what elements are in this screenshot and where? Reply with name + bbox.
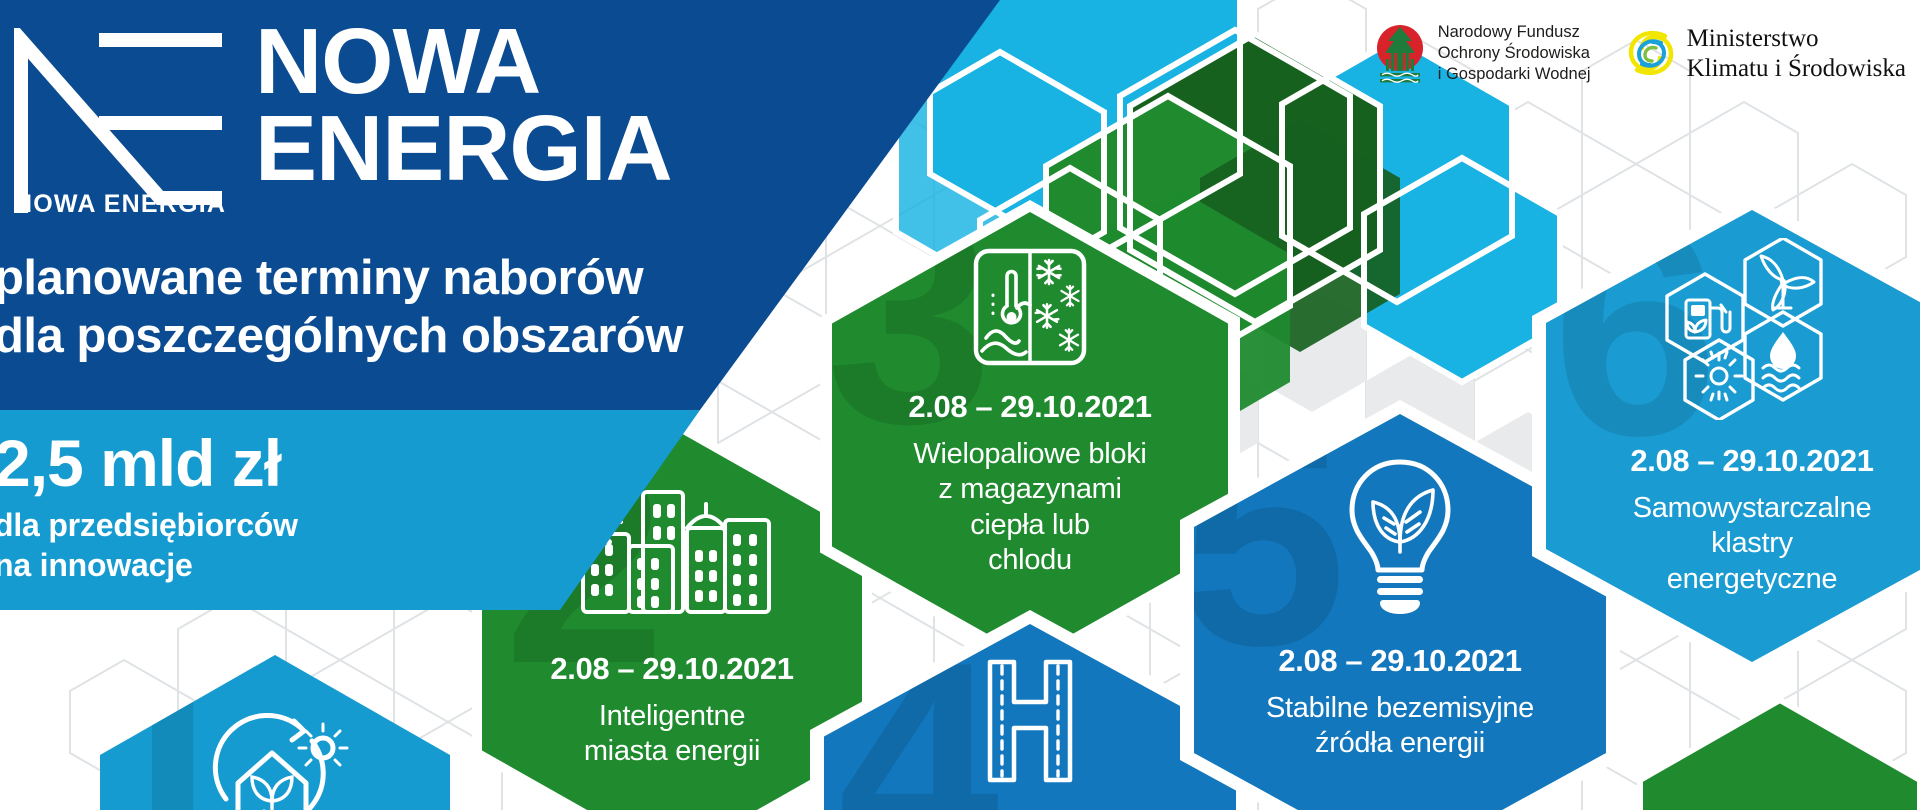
area-2-label: Inteligentne miasta energii: [584, 699, 760, 770]
ministry-line-1: Ministerstwo: [1687, 24, 1906, 54]
page-title-line-2: ENERGIA: [255, 105, 672, 192]
hydrogen-road-h-icon: [980, 658, 1080, 789]
page-subtitle-line-2: dla poszczególnych obszarów: [0, 308, 683, 366]
area-2-label-line-1: Inteligentne: [584, 699, 760, 734]
area-6-label-line-1: Samowystarczalne: [1633, 491, 1872, 526]
spiral-swirl-icon: [1625, 26, 1677, 82]
lightbulb-leaf-icon: [1341, 456, 1459, 621]
budget-description-line-2: na innowacje: [0, 545, 298, 585]
budget-description: dla przedsiębiorców na innowacje: [0, 505, 298, 585]
nfosigw-logo-text: Narodowy Fundusz Ochrony Środowiska i Go…: [1438, 22, 1591, 85]
nfosigw-line-1: Narodowy Fundusz: [1438, 22, 1591, 43]
area-3-label-line-3: ciepła lub: [913, 508, 1146, 543]
house-leaf-sun-cycle-icon: [190, 691, 360, 810]
budget-description-line-1: dla przedsiębiorców: [0, 505, 298, 545]
area-3-label-line-2: z magazynami: [913, 472, 1146, 507]
page-title: NOWA ENERGIA: [255, 18, 672, 193]
ne-logo-wordmark: NOWA ENERGIA: [14, 190, 226, 219]
page-subtitle: planowane terminy naborów dla poszczegól…: [0, 250, 683, 366]
area-6-label: Samowystarczalne klastry energetyczne: [1633, 491, 1872, 597]
page-title-line-1: NOWA: [255, 18, 672, 105]
nfosigw-line-2: Ochrony Środowiska: [1438, 43, 1591, 64]
budget-amount: 2,5 mld zł: [0, 430, 281, 496]
ministry-logo[interactable]: Ministerstwo Klimatu i Środowiska: [1625, 24, 1906, 84]
area-3-date: 2.08 – 29.10.2021: [908, 389, 1151, 425]
ministry-logo-text: Ministerstwo Klimatu i Środowiska: [1687, 24, 1906, 84]
tree-in-red-circle-icon: [1372, 23, 1428, 85]
area-2-label-line-2: miasta energii: [584, 734, 760, 769]
area-6-label-line-2: klastry: [1633, 526, 1872, 561]
infographic-canvas: 1: [0, 0, 1920, 810]
ne-monogram-icon: [10, 28, 225, 213]
area-5-label-line-2: źródła energii: [1266, 726, 1534, 761]
renewables-hex-cluster-icon: [1657, 238, 1847, 425]
area-5-label: Stabilne bezemisyjne źródła energii: [1266, 691, 1534, 762]
area-3-label-line-1: Wielopaliowe bloki: [913, 437, 1146, 472]
page-subtitle-line-1: planowane terminy naborów: [0, 250, 683, 308]
nfosigw-logo[interactable]: Narodowy Fundusz Ochrony Środowiska i Go…: [1372, 22, 1591, 85]
area-3-label-line-4: chlodu: [913, 543, 1146, 578]
area-6-date: 2.08 – 29.10.2021: [1630, 443, 1873, 479]
nfosigw-line-3: i Gospodarki Wodnej: [1438, 64, 1591, 85]
area-5-label-line-1: Stabilne bezemisyjne: [1266, 691, 1534, 726]
ministry-line-2: Klimatu i Środowiska: [1687, 54, 1906, 84]
area-6-label-line-3: energetyczne: [1633, 562, 1872, 597]
partner-logos: Narodowy Fundusz Ochrony Środowiska i Go…: [1372, 22, 1906, 85]
area-2-date: 2.08 – 29.10.2021: [550, 651, 793, 687]
area-5-date: 2.08 – 29.10.2021: [1278, 643, 1521, 679]
area-3-label: Wielopaliowe bloki z magazynami ciepła l…: [913, 437, 1146, 579]
thermometer-snowflake-icon: [969, 246, 1091, 373]
